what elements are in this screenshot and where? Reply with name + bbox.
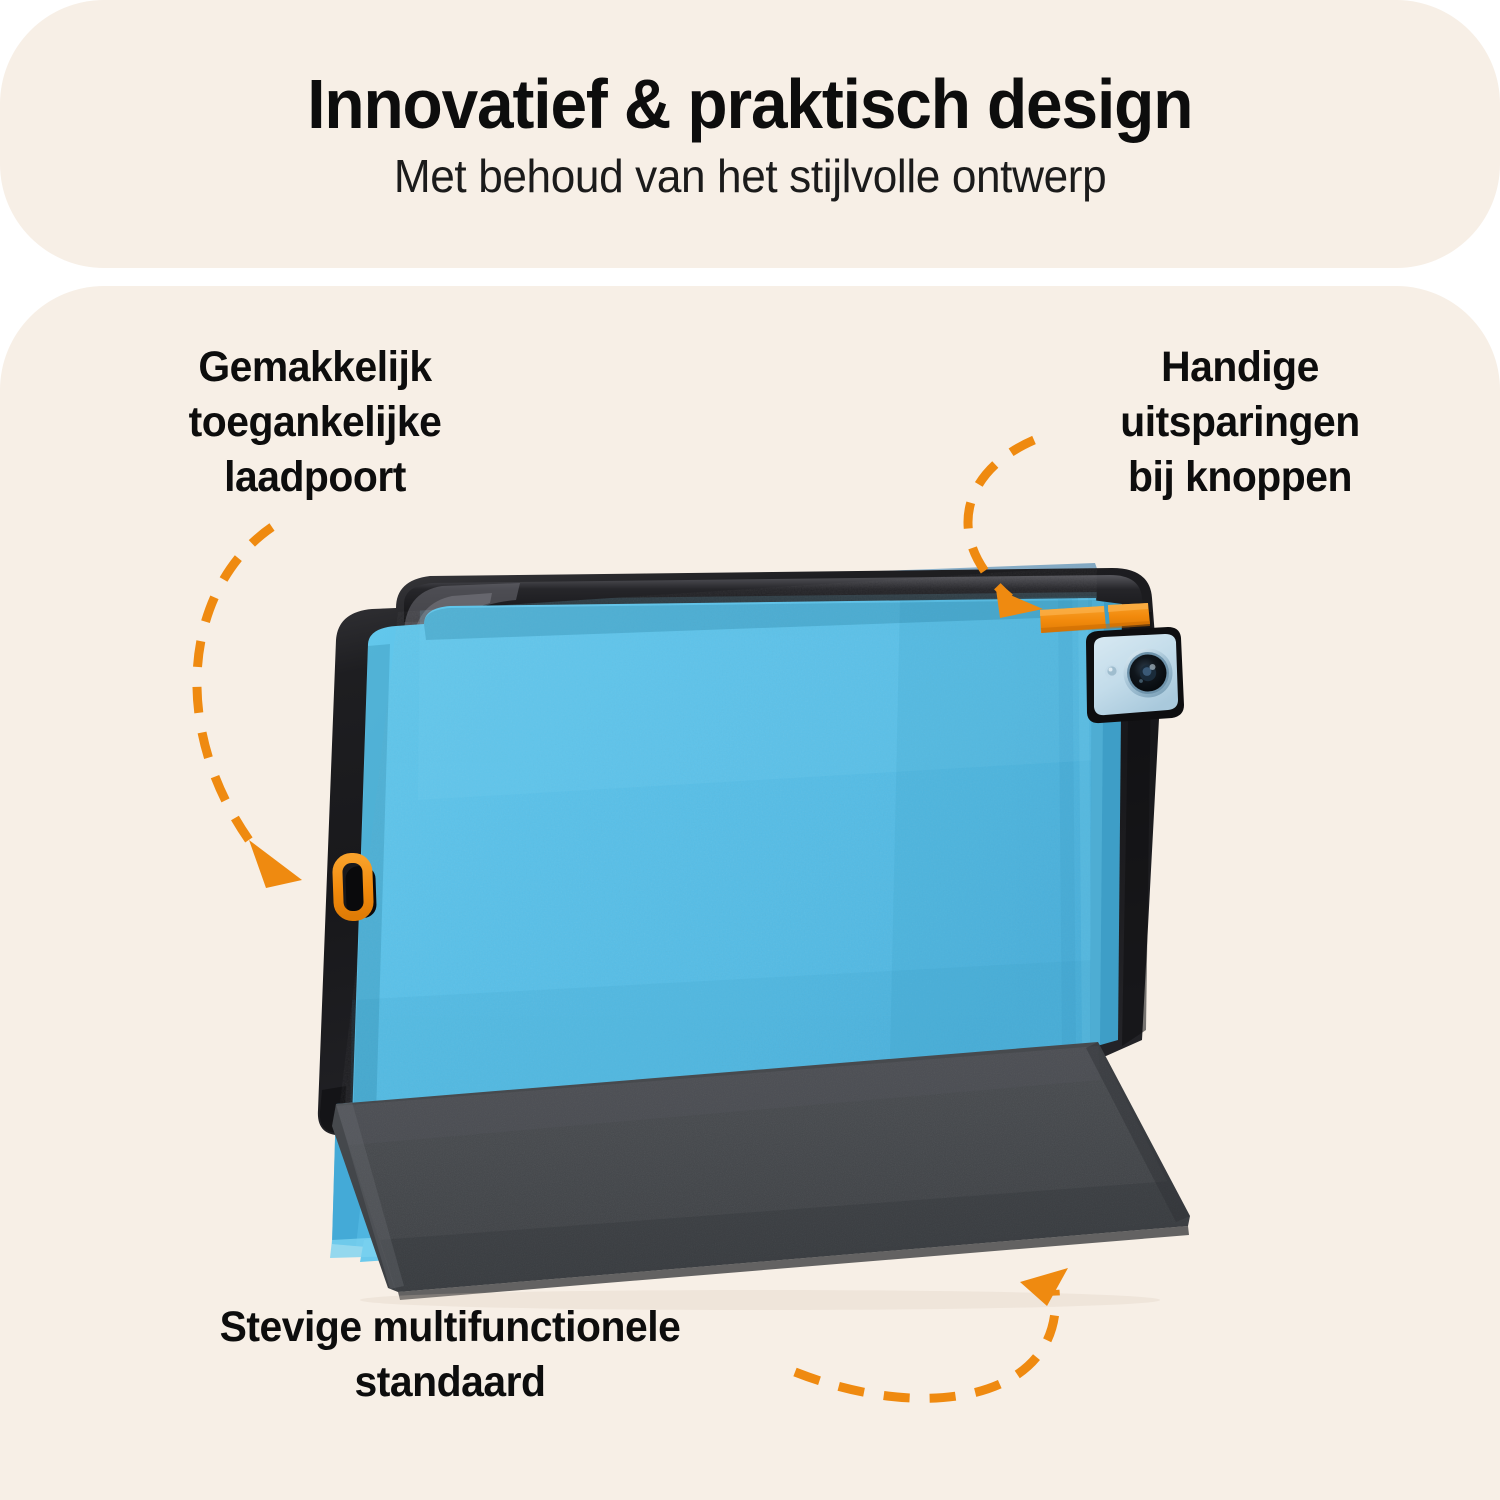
page-title: Innovatief & praktisch design	[307, 64, 1192, 144]
callout-line-3: laadpoort	[106, 450, 524, 505]
callout-label-stand: Stevige multifunctionele standaard	[127, 1300, 773, 1410]
callout-label-charging-port: Gemakkelijk toegankelijke laadpoort	[106, 340, 524, 505]
header-block: Innovatief & praktisch design Met behoud…	[0, 0, 1500, 268]
callout-line-2: standaard	[127, 1355, 773, 1410]
callout-line-3: bij knoppen	[1050, 450, 1430, 505]
callout-line-2: toegankelijke	[106, 395, 524, 450]
callout-line-1: Stevige multifunctionele	[127, 1300, 773, 1355]
page-subtitle: Met behoud van het stijlvolle ontwerp	[394, 148, 1106, 204]
callout-label-button-cutouts: Handige uitsparingen bij knoppen	[1050, 340, 1430, 505]
callout-line-1: Handige	[1050, 340, 1430, 395]
callout-line-1: Gemakkelijk	[106, 340, 524, 395]
infographic-page: Innovatief & praktisch design Met behoud…	[0, 0, 1500, 1500]
callout-line-2: uitsparingen	[1050, 395, 1430, 450]
